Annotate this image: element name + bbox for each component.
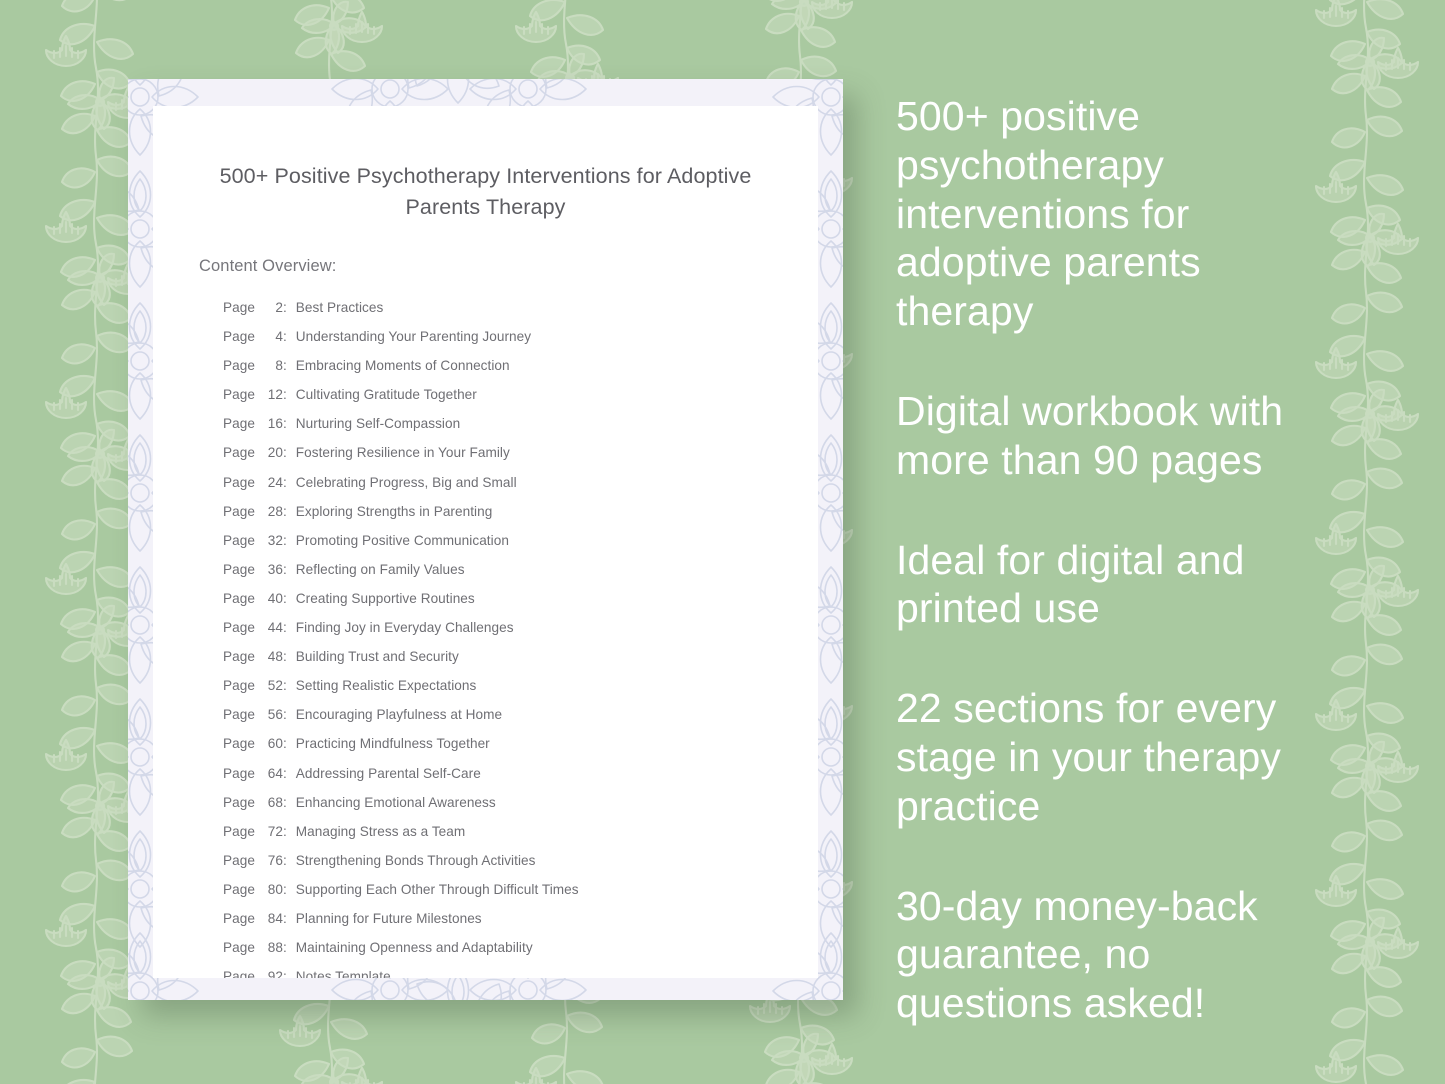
toc-colon: : — [283, 468, 287, 497]
toc-colon: : — [283, 788, 287, 817]
toc-page-word: Page — [223, 962, 255, 978]
toc-colon: : — [283, 700, 287, 729]
toc-page-number: 48 — [259, 642, 283, 671]
toc-page-number: 40 — [259, 584, 283, 613]
toc-colon: : — [283, 817, 287, 846]
toc-colon: : — [283, 642, 287, 671]
toc-page-number: 4 — [259, 322, 283, 351]
toc-colon: : — [283, 380, 287, 409]
product-listing-image: 500+ Positive Psychotherapy Intervention… — [0, 0, 1445, 1084]
toc-page-number: 24 — [259, 468, 283, 497]
toc-colon: : — [283, 497, 287, 526]
marketing-bullet: 30-day money-back guarantee, no question… — [896, 882, 1316, 1028]
toc-page-word: Page — [223, 438, 255, 467]
toc-colon: : — [283, 555, 287, 584]
list-item: Page12:Cultivating Gratitude Together — [223, 380, 818, 409]
toc-page-number: 20 — [259, 438, 283, 467]
list-item: Page92:Notes Template — [223, 962, 818, 978]
toc-entry-title: Building Trust and Security — [296, 642, 459, 671]
toc-colon: : — [283, 875, 287, 904]
list-item: Page52:Setting Realistic Expectations — [223, 671, 818, 700]
list-item: Page56:Encouraging Playfulness at Home — [223, 700, 818, 729]
toc-page-number: 32 — [259, 526, 283, 555]
toc-entry-title: Finding Joy in Everyday Challenges — [296, 613, 514, 642]
toc-entry-title: Promoting Positive Communication — [296, 526, 509, 555]
table-of-contents: Page2:Best PracticesPage4:Understanding … — [153, 277, 818, 978]
toc-page-number: 92 — [259, 962, 283, 978]
toc-entry-title: Supporting Each Other Through Difficult … — [296, 875, 579, 904]
toc-entry-title: Maintaining Openness and Adaptability — [296, 933, 533, 962]
toc-colon: : — [283, 729, 287, 758]
marketing-copy-column: 500+ positive psychotherapy intervention… — [896, 92, 1316, 1028]
toc-page-number: 28 — [259, 497, 283, 526]
toc-page-number: 36 — [259, 555, 283, 584]
toc-entry-title: Exploring Strengths in Parenting — [296, 497, 493, 526]
list-item: Page64:Addressing Parental Self-Care — [223, 759, 818, 788]
list-item: Page16:Nurturing Self-Compassion — [223, 409, 818, 438]
toc-page-word: Page — [223, 817, 255, 846]
toc-colon: : — [283, 409, 287, 438]
toc-page-number: 80 — [259, 875, 283, 904]
toc-page-word: Page — [223, 584, 255, 613]
toc-entry-title: Celebrating Progress, Big and Small — [296, 468, 517, 497]
toc-entry-title: Setting Realistic Expectations — [296, 671, 477, 700]
toc-page-number: 72 — [259, 817, 283, 846]
toc-colon: : — [283, 438, 287, 467]
toc-entry-title: Fostering Resilience in Your Family — [296, 438, 510, 467]
toc-colon: : — [283, 584, 287, 613]
toc-page-word: Page — [223, 322, 255, 351]
list-item: Page72:Managing Stress as a Team — [223, 817, 818, 846]
toc-entry-title: Embracing Moments of Connection — [296, 351, 510, 380]
toc-colon: : — [283, 846, 287, 875]
toc-colon: : — [283, 322, 287, 351]
list-item: Page80:Supporting Each Other Through Dif… — [223, 875, 818, 904]
marketing-bullet: 22 sections for every stage in your ther… — [896, 684, 1316, 830]
toc-page-word: Page — [223, 555, 255, 584]
toc-page-word: Page — [223, 613, 255, 642]
toc-entry-title: Notes Template — [296, 962, 391, 978]
list-item: Page4:Understanding Your Parenting Journ… — [223, 322, 818, 351]
toc-page-number: 88 — [259, 933, 283, 962]
toc-entry-title: Planning for Future Milestones — [296, 904, 482, 933]
toc-colon: : — [283, 671, 287, 700]
toc-entry-title: Managing Stress as a Team — [296, 817, 466, 846]
list-item: Page76:Strengthening Bonds Through Activ… — [223, 846, 818, 875]
toc-colon: : — [283, 526, 287, 555]
toc-entry-title: Encouraging Playfulness at Home — [296, 700, 502, 729]
toc-entry-title: Strengthening Bonds Through Activities — [296, 846, 536, 875]
marketing-bullet: Ideal for digital and printed use — [896, 536, 1316, 634]
toc-page-word: Page — [223, 875, 255, 904]
toc-page-number: 60 — [259, 729, 283, 758]
toc-entry-title: Creating Supportive Routines — [296, 584, 475, 613]
toc-page-number: 56 — [259, 700, 283, 729]
toc-entry-title: Reflecting on Family Values — [296, 555, 465, 584]
toc-page-word: Page — [223, 759, 255, 788]
toc-colon: : — [283, 962, 287, 978]
marketing-bullet: Digital workbook with more than 90 pages — [896, 387, 1316, 485]
list-item: Page88:Maintaining Openness and Adaptabi… — [223, 933, 818, 962]
toc-page-word: Page — [223, 380, 255, 409]
toc-entry-title: Understanding Your Parenting Journey — [296, 322, 531, 351]
toc-page-number: 52 — [259, 671, 283, 700]
toc-page-word: Page — [223, 526, 255, 555]
toc-page-number: 12 — [259, 380, 283, 409]
page-title: 500+ Positive Psychotherapy Intervention… — [153, 106, 818, 223]
toc-entry-title: Addressing Parental Self-Care — [296, 759, 481, 788]
toc-page-number: 64 — [259, 759, 283, 788]
toc-entry-title: Cultivating Gratitude Together — [296, 380, 477, 409]
toc-page-word: Page — [223, 642, 255, 671]
marketing-bullet: 500+ positive psychotherapy intervention… — [896, 92, 1316, 336]
toc-page-number: 16 — [259, 409, 283, 438]
toc-page-word: Page — [223, 468, 255, 497]
toc-colon: : — [283, 613, 287, 642]
list-item: Page48:Building Trust and Security — [223, 642, 818, 671]
toc-page-word: Page — [223, 700, 255, 729]
list-item: Page32:Promoting Positive Communication — [223, 526, 818, 555]
list-item: Page68:Enhancing Emotional Awareness — [223, 788, 818, 817]
list-item: Page24:Celebrating Progress, Big and Sma… — [223, 468, 818, 497]
list-item: Page44:Finding Joy in Everyday Challenge… — [223, 613, 818, 642]
toc-colon: : — [283, 933, 287, 962]
toc-page-number: 44 — [259, 613, 283, 642]
toc-page-number: 68 — [259, 788, 283, 817]
toc-page-word: Page — [223, 671, 255, 700]
content-overview-label: Content Overview: — [153, 223, 818, 277]
toc-page-number: 84 — [259, 904, 283, 933]
list-item: Page8:Embracing Moments of Connection — [223, 351, 818, 380]
list-item: Page2:Best Practices — [223, 293, 818, 322]
toc-colon: : — [283, 759, 287, 788]
toc-page-word: Page — [223, 409, 255, 438]
workbook-preview-card: 500+ Positive Psychotherapy Intervention… — [128, 79, 843, 1000]
toc-page-word: Page — [223, 788, 255, 817]
toc-page-word: Page — [223, 933, 255, 962]
toc-page-word: Page — [223, 729, 255, 758]
toc-entry-title: Nurturing Self-Compassion — [296, 409, 460, 438]
toc-page-number: 8 — [259, 351, 283, 380]
toc-entry-title: Practicing Mindfulness Together — [296, 729, 490, 758]
list-item: Page40:Creating Supportive Routines — [223, 584, 818, 613]
toc-colon: : — [283, 904, 287, 933]
toc-entry-title: Enhancing Emotional Awareness — [296, 788, 496, 817]
toc-page-word: Page — [223, 351, 255, 380]
list-item: Page20:Fostering Resilience in Your Fami… — [223, 438, 818, 467]
list-item: Page60:Practicing Mindfulness Together — [223, 729, 818, 758]
list-item: Page28:Exploring Strengths in Parenting — [223, 497, 818, 526]
toc-page-word: Page — [223, 846, 255, 875]
toc-page-number: 2 — [259, 293, 283, 322]
list-item: Page84:Planning for Future Milestones — [223, 904, 818, 933]
toc-page-word: Page — [223, 497, 255, 526]
toc-entry-title: Best Practices — [296, 293, 384, 322]
list-item: Page36:Reflecting on Family Values — [223, 555, 818, 584]
toc-page-word: Page — [223, 904, 255, 933]
workbook-page-sheet: 500+ Positive Psychotherapy Intervention… — [153, 106, 818, 978]
toc-colon: : — [283, 351, 287, 380]
toc-page-number: 76 — [259, 846, 283, 875]
toc-colon: : — [283, 293, 287, 322]
toc-page-word: Page — [223, 293, 255, 322]
